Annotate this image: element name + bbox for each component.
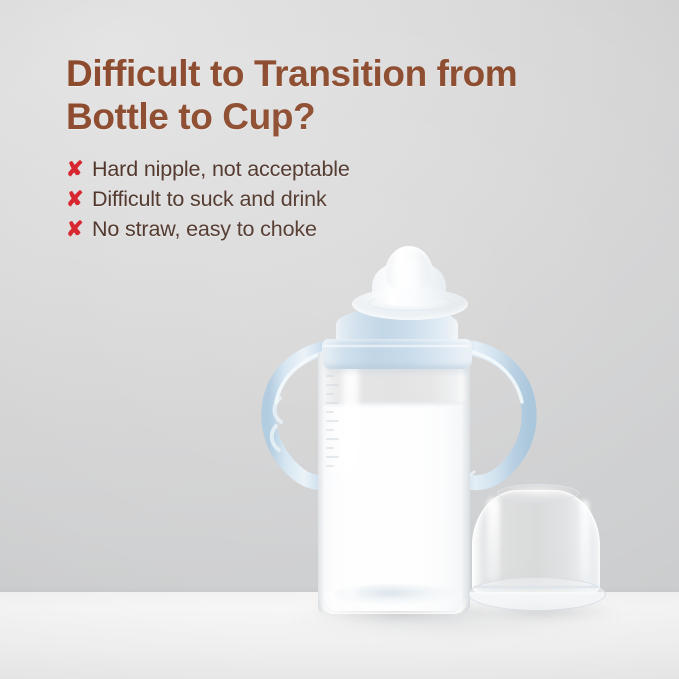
headline-line-1: Difficult to Transition from: [66, 53, 517, 94]
cross-mark-icon: ✘: [66, 185, 92, 214]
list-item-label: No straw, easy to choke: [92, 215, 317, 244]
list-item-label: Hard nipple, not acceptable: [92, 155, 350, 184]
background-table-surface: [0, 592, 679, 679]
list-item: ✘ Hard nipple, not acceptable: [66, 155, 496, 184]
page-title: Difficult to Transition from Bottle to C…: [66, 52, 606, 138]
product-feature-graphic: Difficult to Transition from Bottle to C…: [0, 0, 679, 679]
list-item: ✘ No straw, easy to choke: [66, 215, 496, 244]
headline-line-2: Bottle to Cup?: [66, 96, 315, 137]
cross-mark-icon: ✘: [66, 215, 92, 244]
cross-mark-icon: ✘: [66, 155, 92, 184]
list-item-label: Difficult to suck and drink: [92, 185, 327, 214]
problem-list: ✘ Hard nipple, not acceptable ✘ Difficul…: [66, 155, 496, 245]
list-item: ✘ Difficult to suck and drink: [66, 185, 496, 214]
